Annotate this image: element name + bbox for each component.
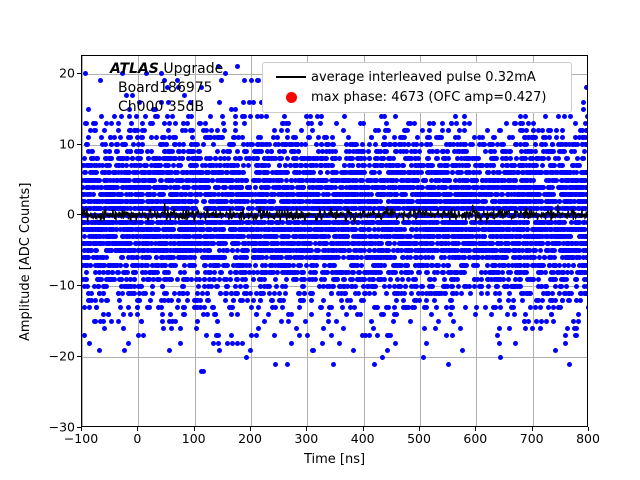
figure-canvas: −1000100200300400500600700800−30−20−1001… xyxy=(0,0,640,480)
